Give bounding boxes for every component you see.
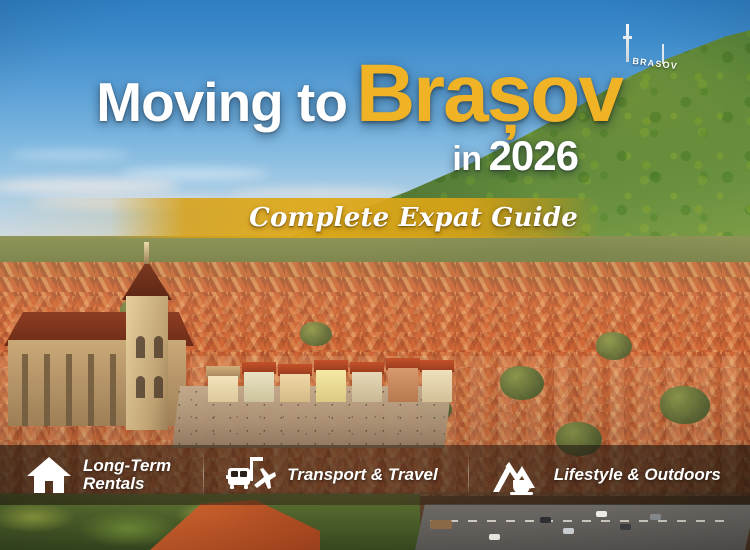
church-window bbox=[154, 376, 163, 398]
car bbox=[650, 514, 661, 520]
car bbox=[620, 524, 631, 530]
poster-root: BRASOV bbox=[0, 0, 750, 550]
bus bbox=[430, 520, 452, 529]
lane-markings bbox=[430, 520, 730, 522]
subtitle-year: 2026 bbox=[489, 132, 578, 179]
subtitle-year-line: in2026 bbox=[0, 132, 578, 180]
church-buttress bbox=[66, 354, 72, 426]
car bbox=[489, 534, 500, 540]
feature-item-lifestyle[interactable]: Lifestyle & Outdoors bbox=[469, 445, 721, 505]
bus-plane-icon bbox=[226, 455, 276, 495]
feature-bar: Long-Term Rentals bbox=[0, 445, 750, 505]
feature-label-line1: Long-Term bbox=[83, 456, 171, 475]
church-window bbox=[136, 376, 145, 398]
headline-prefix: Moving to bbox=[96, 77, 347, 128]
rowhouse bbox=[244, 372, 274, 402]
mountain-coffee-icon bbox=[491, 454, 543, 496]
feature-label-transport: Transport & Travel bbox=[287, 466, 438, 484]
rowhouse bbox=[280, 374, 310, 402]
rowhouse bbox=[388, 368, 418, 402]
headline-city: Brașov bbox=[356, 56, 622, 131]
feature-item-rentals[interactable]: Long-Term Rentals bbox=[0, 445, 171, 505]
church-window bbox=[154, 336, 163, 358]
car bbox=[596, 511, 607, 517]
church-spire bbox=[144, 242, 149, 264]
rowhouse bbox=[208, 376, 238, 402]
rowhouse bbox=[422, 370, 452, 402]
feature-label-line2: Rentals bbox=[83, 474, 144, 493]
rowhouse bbox=[316, 370, 346, 402]
feature-label-lifestyle: Lifestyle & Outdoors bbox=[554, 466, 721, 484]
church-buttress bbox=[22, 354, 28, 426]
subtitle-preposition: in bbox=[452, 140, 481, 178]
church-buttress bbox=[110, 354, 116, 426]
church-buttress bbox=[44, 354, 50, 426]
banner-text: Complete Expat Guide bbox=[0, 199, 578, 237]
car bbox=[563, 528, 574, 534]
church-buttress bbox=[88, 354, 94, 426]
feature-item-transport[interactable]: Transport & Travel bbox=[204, 445, 438, 505]
house-icon bbox=[26, 454, 72, 496]
page-title: Moving toBrașov bbox=[0, 56, 622, 131]
tv-tower-icon bbox=[626, 24, 629, 62]
street bbox=[415, 504, 750, 550]
feature-label-rentals: Long-Term Rentals bbox=[83, 457, 171, 494]
rowhouse bbox=[352, 372, 382, 402]
church-window bbox=[136, 336, 145, 358]
car bbox=[540, 517, 551, 523]
church-tower bbox=[126, 296, 168, 430]
